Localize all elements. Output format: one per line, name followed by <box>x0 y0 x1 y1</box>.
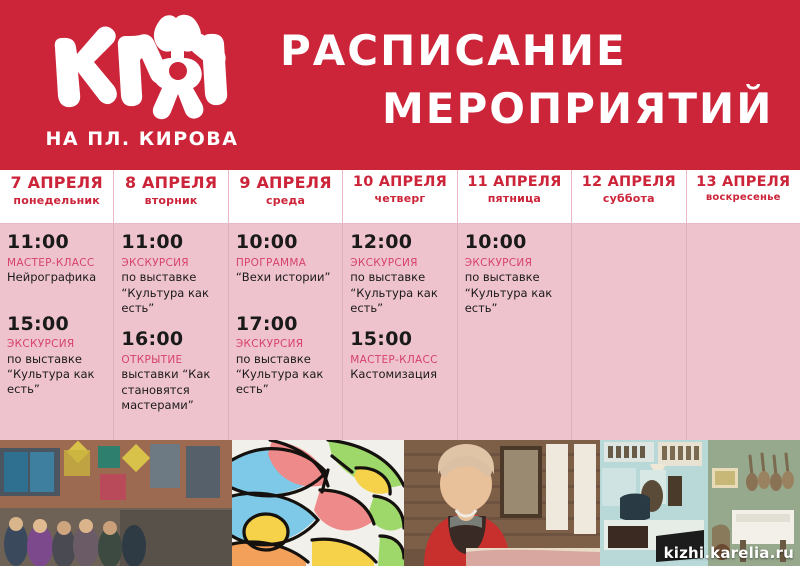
event-description: по выставке “Культура как есть” <box>236 352 335 398</box>
event-time: 11:00 <box>7 232 106 254</box>
schedule-column-4: 12:00 ЭКСКУРСИЯ по выставке “Культура ка… <box>343 224 457 440</box>
day-date: 11 АПРЕЛЯ <box>458 175 571 190</box>
schedule-column-6 <box>572 224 686 440</box>
day-header-row: 7 АПРЕЛЯ понедельник 8 АПРЕЛЯ вторник 9 … <box>0 170 800 224</box>
schedule-column-1: 11:00 МАСТЕР-КЛАСС Нейрографика 15:00 ЭК… <box>0 224 114 440</box>
event-item: 11:00 МАСТЕР-КЛАСС Нейрографика <box>7 232 106 286</box>
event-description: по выставке “Культура как есть” <box>7 352 106 398</box>
event-item: 10:00 ЭКСКУРСИЯ по выставке “Культура ка… <box>465 232 564 316</box>
event-item: 16:00 ОТКРЫТИЕ выставки “Как становятся … <box>121 329 220 413</box>
day-date: 13 АПРЕЛЯ <box>687 175 800 190</box>
day-header-cell-4: 10 АПРЕЛЯ четверг <box>343 170 457 224</box>
event-time: 15:00 <box>7 314 106 336</box>
day-date: 7 АПРЕЛЯ <box>0 175 113 192</box>
poster-title: РАСПИСАНИЕ МЕРОПРИЯТИЙ <box>256 16 786 156</box>
day-header-cell-3: 9 АПРЕЛЯ среда <box>229 170 343 224</box>
day-header-cell-7: 13 АПРЕЛЯ воскресенье <box>687 170 800 224</box>
photo-neurographic-artwork <box>232 440 404 566</box>
event-description: Нейрографика <box>7 270 106 285</box>
day-header-cell-1: 7 АПРЕЛЯ понедельник <box>0 170 114 224</box>
photo-visitors-outside-museum <box>0 440 232 566</box>
schedule-column-3: 10:00 ПРОГРАММА “Вехи истории” 17:00 ЭКС… <box>229 224 343 440</box>
event-time: 12:00 <box>350 232 449 254</box>
event-kind: ЭКСКУРСИЯ <box>7 338 106 351</box>
event-description: выставки “Как становятся мастерами” <box>121 367 220 413</box>
day-weekday: понедельник <box>0 194 113 207</box>
photo-museum-interior: kizhi.karelia.ru <box>600 440 800 566</box>
event-kind: МАСТЕР-КЛАСС <box>350 354 449 367</box>
day-date: 9 АПРЕЛЯ <box>229 175 342 192</box>
day-weekday: вторник <box>114 194 227 207</box>
event-time: 16:00 <box>121 329 220 351</box>
event-time: 10:00 <box>465 232 564 254</box>
event-time: 10:00 <box>236 232 335 254</box>
event-time: 15:00 <box>350 329 449 351</box>
event-item: 10:00 ПРОГРАММА “Вехи истории” <box>236 232 335 286</box>
photo-strip: kizhi.karelia.ru <box>0 440 800 566</box>
event-item: 12:00 ЭКСКУРСИЯ по выставке “Культура ка… <box>350 232 449 316</box>
event-kind: ПРОГРАММА <box>236 257 335 270</box>
day-weekday: воскресенье <box>687 192 800 203</box>
event-kind: ЭКСКУРСИЯ <box>465 257 564 270</box>
event-item: 11:00 ЭКСКУРСИЯ по выставке “Культура ка… <box>121 232 220 316</box>
spacer <box>7 292 106 314</box>
event-description: по выставке “Культура как есть” <box>465 270 564 316</box>
event-item: 15:00 МАСТЕР-КЛАСС Кастомизация <box>350 329 449 383</box>
schedule-column-2: 11:00 ЭКСКУРСИЯ по выставке “Культура ка… <box>114 224 228 440</box>
event-kind: ОТКРЫТИЕ <box>121 354 220 367</box>
day-header-cell-5: 11 АПРЕЛЯ пятница <box>458 170 572 224</box>
event-kind: ЭКСКУРСИЯ <box>350 257 449 270</box>
day-weekday: среда <box>229 194 342 207</box>
event-time: 17:00 <box>236 314 335 336</box>
schedule-column-5: 10:00 ЭКСКУРСИЯ по выставке “Культура ка… <box>458 224 572 440</box>
site-watermark: kizhi.karelia.ru <box>664 544 794 562</box>
day-date: 12 АПРЕЛЯ <box>572 175 685 190</box>
kizhi-logo: НА ПЛ. КИРОВА <box>28 14 256 162</box>
event-item: 15:00 ЭКСКУРСИЯ по выставке “Культура ка… <box>7 314 106 398</box>
header-band: НА ПЛ. КИРОВА РАСПИСАНИЕ МЕРОПРИЯТИЙ <box>0 0 800 170</box>
day-weekday: четверг <box>343 192 456 205</box>
kizhi-logo-icon <box>42 14 242 126</box>
event-time: 11:00 <box>121 232 220 254</box>
title-line-2: МЕРОПРИЯТИЙ <box>382 88 773 130</box>
day-header-cell-2: 8 АПРЕЛЯ вторник <box>114 170 228 224</box>
day-header-cell-6: 12 АПРЕЛЯ суббота <box>572 170 686 224</box>
event-description: по выставке “Культура как есть” <box>121 270 220 316</box>
event-kind: МАСТЕР-КЛАСС <box>7 257 106 270</box>
photo-woman-traditional-costume <box>404 440 600 566</box>
day-weekday: пятница <box>458 192 571 205</box>
schedule-grid: 11:00 МАСТЕР-КЛАСС Нейрографика 15:00 ЭК… <box>0 224 800 440</box>
event-description: “Вехи истории” <box>236 270 335 285</box>
day-date: 8 АПРЕЛЯ <box>114 175 227 192</box>
logo-subtitle: НА ПЛ. КИРОВА <box>28 128 256 150</box>
event-description: Кастомизация <box>350 367 449 382</box>
schedule-column-7 <box>687 224 800 440</box>
title-line-1: РАСПИСАНИЕ <box>280 30 627 72</box>
event-kind: ЭКСКУРСИЯ <box>121 257 220 270</box>
day-weekday: суббота <box>572 192 685 205</box>
event-schedule-poster: НА ПЛ. КИРОВА РАСПИСАНИЕ МЕРОПРИЯТИЙ 7 А… <box>0 0 800 566</box>
spacer <box>236 292 335 314</box>
day-date: 10 АПРЕЛЯ <box>343 175 456 190</box>
event-item: 17:00 ЭКСКУРСИЯ по выставке “Культура ка… <box>236 314 335 398</box>
event-kind: ЭКСКУРСИЯ <box>236 338 335 351</box>
event-description: по выставке “Культура как есть” <box>350 270 449 316</box>
